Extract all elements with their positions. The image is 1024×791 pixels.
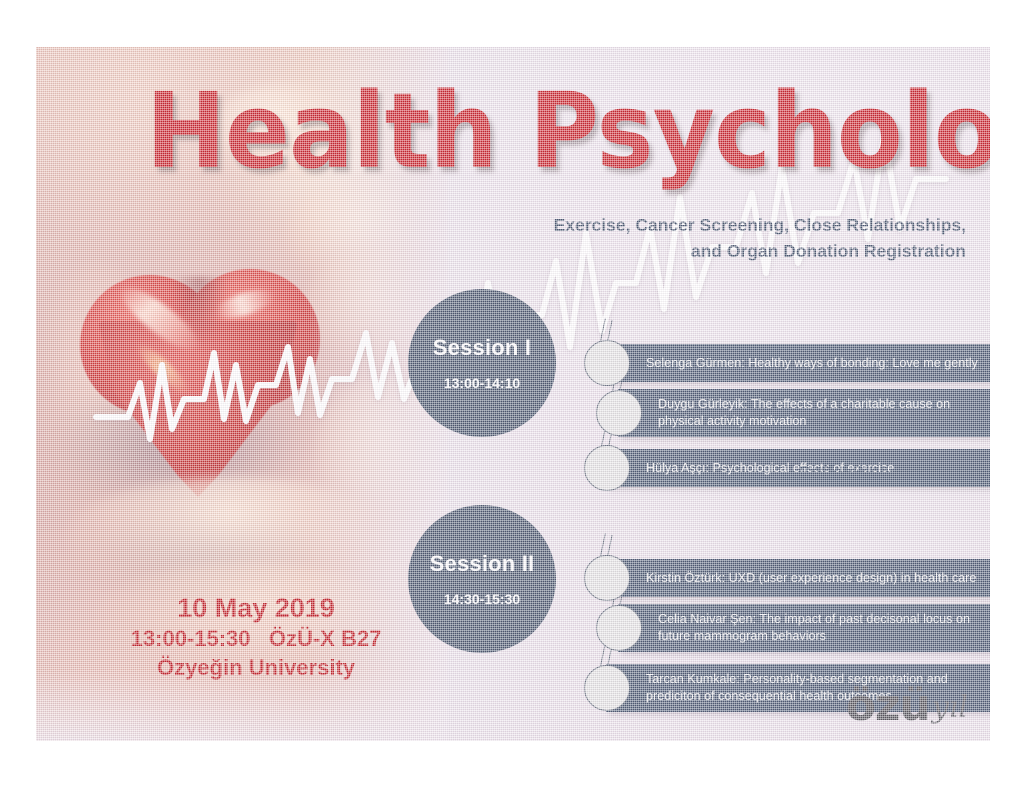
logo-mark-text: özü (846, 687, 930, 725)
poster-subtitle: Exercise, Cancer Screening, Close Relati… (466, 212, 966, 265)
timeline-node-circle (584, 665, 630, 711)
subtitle-line-1: Exercise, Cancer Screening, Close Relati… (466, 212, 966, 238)
session-2-time: 14:30-15:30 (444, 591, 520, 607)
timeline-node-circle (584, 340, 630, 386)
subtitle-line-2: and Organ Donation Registration (466, 238, 966, 264)
red-heart-icon (76, 269, 326, 499)
session-1-name: Session I (433, 335, 531, 361)
talk-title: Selenga Gürmen: Healthy ways of bonding:… (606, 355, 990, 372)
event-details: 10 May 2019 13:00-15:30 ÖzÜ-X B27 Özyeği… (86, 592, 426, 682)
coffee-break-label: Coffee/Networking Break (596, 462, 990, 483)
talk-item: Celia Naivar Şen: The impact of past dec… (596, 604, 990, 652)
talk-title: Kirstin Öztürk: UXD (user experience des… (606, 570, 988, 587)
talk-item: Duygu Gürleyik: The effects of a charita… (596, 389, 990, 437)
page-title: Health Psychology (146, 79, 919, 183)
event-time-and-venue: 13:00-15:30 ÖzÜ-X B27 (86, 625, 426, 654)
logo-suffix-text: yıl (932, 693, 968, 723)
talk-item: Kirstin Öztürk: UXD (user experience des… (584, 559, 990, 597)
event-organization: Özyeğin University (86, 654, 426, 683)
timeline-node-circle (596, 605, 642, 651)
timeline-node-circle (596, 390, 642, 436)
talk-title: Duygu Gürleyik: The effects of a charita… (618, 396, 990, 429)
event-date: 10 May 2019 (86, 592, 426, 625)
ozyegin-university-logo: özü yıl (846, 687, 968, 725)
poster-canvas: Health Psychology Exercise, Cancer Scree… (36, 47, 990, 741)
timeline-node-circle (584, 555, 630, 601)
session-2-badge: Session II 14:30-15:30 (408, 505, 556, 653)
talk-bar: Selenga Gürmen: Healthy ways of bonding:… (606, 344, 990, 382)
session-1-time: 13:00-14:10 (444, 375, 520, 391)
talk-bar: Duygu Gürleyik: The effects of a charita… (618, 389, 990, 437)
session-1-badge: Session I 13:00-14:10 (408, 289, 556, 437)
talk-bar: Celia Naivar Şen: The impact of past dec… (618, 604, 990, 652)
session-2-name: Session II (430, 551, 535, 577)
talk-title: Celia Naivar Şen: The impact of past dec… (618, 611, 990, 644)
talk-item: Selenga Gürmen: Healthy ways of bonding:… (584, 344, 990, 382)
talk-bar: Kirstin Öztürk: UXD (user experience des… (606, 559, 990, 597)
